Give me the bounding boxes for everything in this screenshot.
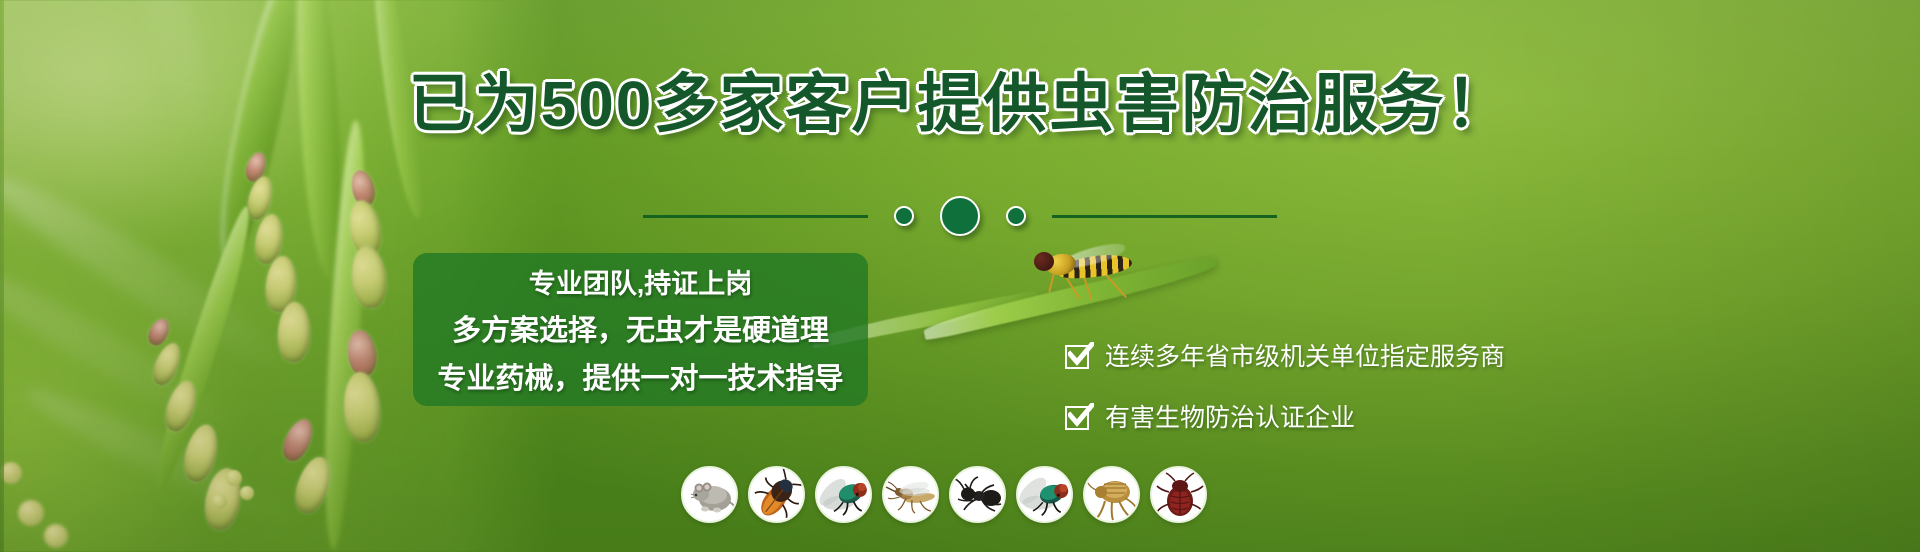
- fly-icon: [817, 468, 872, 523]
- pest-icon-strip: [681, 466, 1207, 523]
- promo-line-1: 专业团队,持证上岗: [529, 262, 753, 301]
- pest-chip-fly[interactable]: [815, 466, 872, 523]
- bedbug-icon: [1152, 468, 1207, 523]
- ornament-dot-small-left: [894, 206, 914, 226]
- pest-chip-mosquito[interactable]: [882, 466, 939, 523]
- credential-label: 有害生物防治认证企业: [1105, 398, 1355, 434]
- checkbox-checked-icon: [1065, 403, 1092, 430]
- blowfly-icon: [1018, 468, 1073, 523]
- pest-chip-cockroach[interactable]: [748, 466, 805, 523]
- banner-headline: 已为500多家客户提供虫害防治服务！: [0, 72, 1920, 136]
- credential-label: 连续多年省市级机关单位指定服务商: [1105, 337, 1505, 373]
- credentials-list: 连续多年省市级机关单位指定服务商 有害生物防治认证企业: [1065, 337, 1505, 434]
- headline-ornament: [0, 196, 1920, 236]
- mosquito-icon: [884, 468, 939, 523]
- pest-chip-flea[interactable]: [1083, 466, 1140, 523]
- pest-chip-blowfly[interactable]: [1016, 466, 1073, 523]
- checkmark-glyph: [1068, 342, 1094, 366]
- pest-chip-bedbug[interactable]: [1150, 466, 1207, 523]
- flea-icon: [1085, 468, 1140, 523]
- promo-line-2: 多方案选择，无虫才是硬道理: [452, 307, 829, 349]
- hoverfly-illustration: [1040, 250, 1170, 320]
- insect-leg: [1048, 273, 1055, 293]
- credential-row: 有害生物防治认证企业: [1065, 398, 1505, 434]
- pest-control-banner: 已为500多家客户提供虫害防治服务！ 专业团队,持证上岗 多方案选择，无虫才是硬…: [0, 0, 1920, 552]
- mouse-icon: [683, 468, 738, 523]
- ant-icon: [951, 468, 1006, 523]
- ornament-line-right: [1052, 215, 1277, 218]
- pest-chip-ant[interactable]: [949, 466, 1006, 523]
- pest-chip-mouse[interactable]: [681, 466, 738, 523]
- ornament-dot-small-right: [1006, 206, 1026, 226]
- ornament-line-left: [643, 215, 868, 218]
- ornament-dot-large: [940, 196, 980, 236]
- promo-panel: 专业团队,持证上岗 多方案选择，无虫才是硬道理 专业药械，提供一对一技术指导: [413, 253, 868, 406]
- cockroach-icon: [750, 468, 805, 523]
- checkbox-checked-icon: [1065, 342, 1092, 369]
- promo-line-3: 专业药械，提供一对一技术指导: [437, 355, 843, 397]
- checkmark-glyph: [1068, 403, 1094, 427]
- credential-row: 连续多年省市级机关单位指定服务商: [1065, 337, 1505, 373]
- insect-head: [1034, 252, 1054, 271]
